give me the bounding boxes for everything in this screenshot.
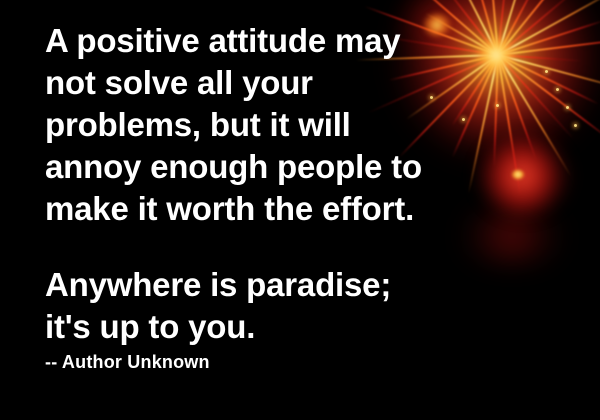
quote-image: A positive attitude may not solve all yo… — [0, 0, 600, 420]
attribution-text: -- Author Unknown — [45, 350, 600, 374]
quote-line: it's up to you. — [45, 306, 600, 348]
quote-line: A positive attitude may — [45, 20, 600, 62]
quote-line: not solve all your — [45, 62, 600, 104]
quote-line: Anywhere is paradise; — [45, 264, 600, 306]
quote-line: make it worth the effort. — [45, 188, 600, 230]
quote-text-block: A positive attitude may not solve all yo… — [0, 0, 600, 420]
quote-line: annoy enough people to — [45, 146, 600, 188]
quote-line: problems, but it will — [45, 104, 600, 146]
paragraph-spacer — [45, 230, 600, 264]
